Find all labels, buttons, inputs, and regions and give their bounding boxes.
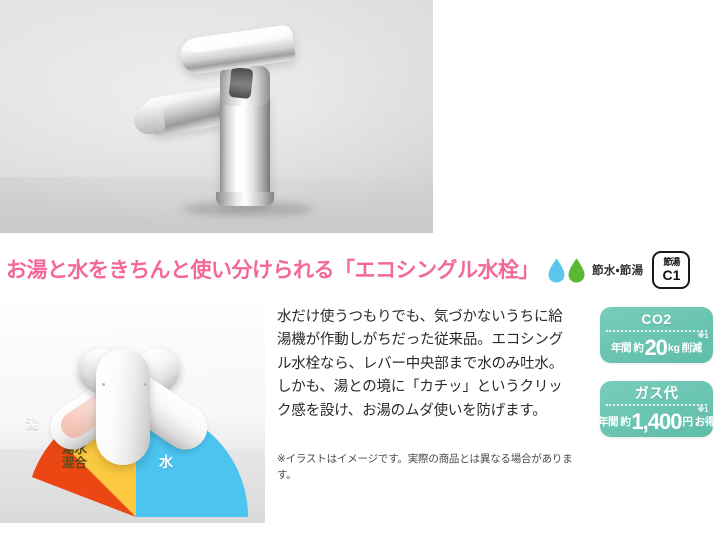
stat-body-gas: ※1 年間 約 1,400 円 お得 [600,406,713,437]
product-feature-page: お湯と水をきちんと使い分けられる「エコシングル水栓」 節水・節湯 節湯 C1 [0,0,720,550]
stat-prefix-gas: 年間 約 [600,414,630,429]
badge-bottom-text: C1 [662,268,680,282]
lever-handle [96,349,150,465]
illustration-lever [38,331,218,461]
faucet-spout-tip [132,104,166,136]
product-photo [0,0,433,233]
setsuyu-c1-badge: 節湯 C1 [652,251,690,289]
stat-title-gas: ガス代 [600,381,713,404]
page-title: お湯と水をきちんと使い分けられる「エコシングル水栓」 [0,260,539,281]
lever-dot-left [102,383,105,386]
eco-label: 節水・節湯 [592,262,643,278]
badge-top-text: 節湯 [663,258,679,267]
water-drop-green-icon [568,258,585,283]
stat-title-co2: CO2 [600,307,713,330]
stat-ref-co2: ※1 [698,331,708,340]
stat-ref-gas: ※1 [698,405,708,414]
stat-body-co2: ※1 年間 約 20 kg 削減 [600,332,713,363]
stat-number-co2: 20 [644,337,666,359]
lever-zone-illustration: 湯 湯水 混合 水 [0,305,265,523]
stat-prefix-co2: 年間 約 [611,340,643,355]
stat-unit-co2: kg [668,342,680,354]
body-copy: 水だけ使うつもりでも、気づかないうちに給湯機が作動しがちだった従来品。エコシング… [277,306,567,423]
headline-row: お湯と水をきちんと使い分けられる「エコシングル水栓」 節水・節湯 節湯 C1 [0,248,720,292]
stat-badge-gas-cost: ガス代 ※1 年間 約 1,400 円 お得 [600,381,713,437]
stat-badge-co2: CO2 ※1 年間 約 20 kg 削減 [600,307,713,363]
faucet-base [216,192,274,206]
disclaimer-note: ※イラストはイメージです。実際の商品とは異なる場合があります。 [277,452,577,484]
stat-suffix-co2: 削減 [682,340,702,355]
water-drop-blue-icon [548,258,565,283]
stat-unit-gas: 円 [682,414,692,429]
stat-suffix-gas: お得 [695,414,713,429]
lever-dot-right [144,383,147,386]
faucet-illustration-photo [124,26,324,211]
eco-drop-icons [548,258,585,283]
stat-number-gas: 1,400 [631,411,681,433]
faucet-cartridge-shadow [228,67,253,99]
